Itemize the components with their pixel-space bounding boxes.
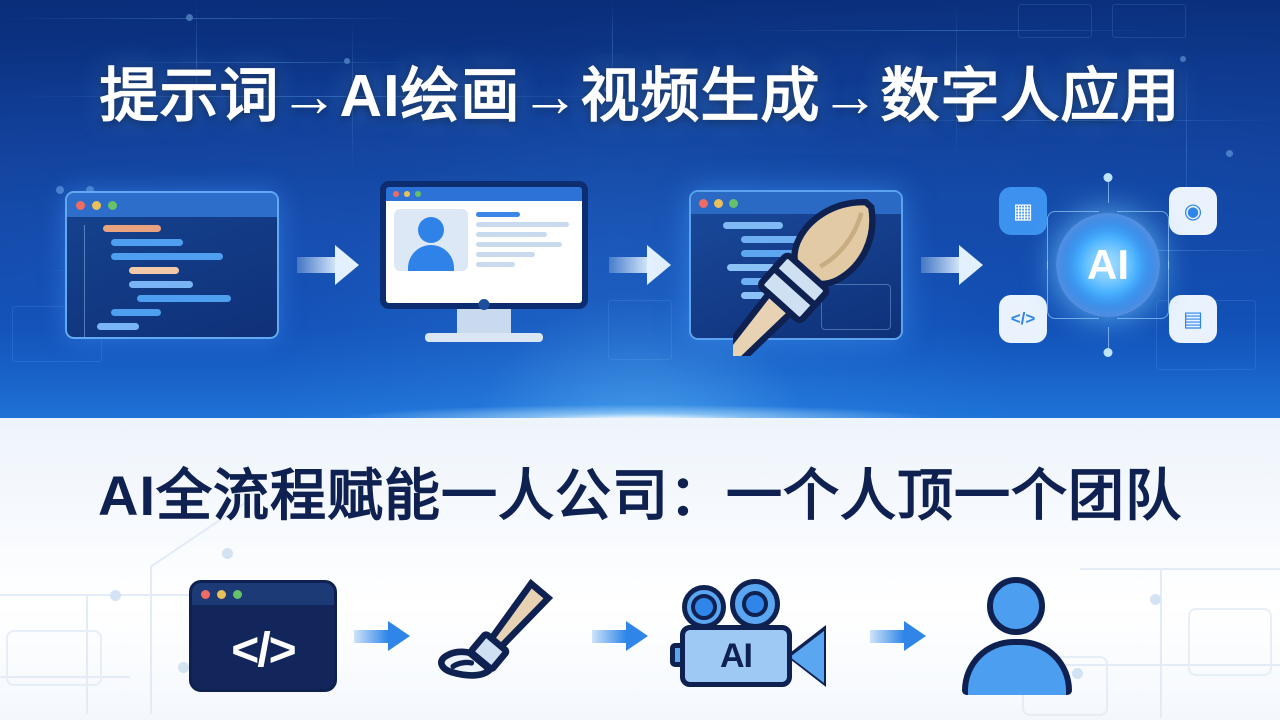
close-dot-icon: [201, 590, 210, 599]
movie-camera-icon: AI: [674, 577, 844, 695]
avatar-chat-icon: ◉: [1169, 187, 1217, 235]
maximize-dot-icon: [233, 590, 242, 599]
image-frame-icon: ▦: [999, 187, 1047, 235]
bottom-arrow-3: [859, 613, 937, 659]
window-titlebar: [67, 193, 277, 217]
bottom-headline: AI全流程赋能一人公司：一个人顶一个团队: [0, 458, 1280, 534]
paintbrush-window-icon: [689, 190, 903, 340]
code-tag-icon: </>: [999, 295, 1047, 343]
bottom-arrow-1: [343, 613, 421, 659]
person-head: [987, 577, 1045, 635]
minimize-dot-icon: [92, 201, 101, 210]
top-arrow-1: [292, 235, 364, 295]
bottom-panel: AI全流程赋能一人公司：一个人顶一个团队 </>: [0, 418, 1280, 720]
bottom-arrow-2: [581, 613, 659, 659]
camera-reel-left-icon: [682, 585, 726, 629]
top-arrow-2: [604, 235, 676, 295]
camera-ai-label: AI: [720, 637, 752, 676]
camera-lens-icon: [790, 631, 824, 683]
code-lines: [67, 217, 277, 339]
desktop-monitor-icon: [380, 181, 588, 349]
code-window-icon: </>: [189, 580, 337, 692]
maximize-dot-icon: [108, 201, 117, 210]
top-flow-step-digital-human: ▦ ◉ </> ▤ AI: [988, 165, 1228, 365]
window-titlebar: [192, 583, 334, 605]
code-window-icon: [65, 191, 279, 339]
top-flow-step-prompt: [52, 165, 292, 365]
ai-core-badge: AI: [1056, 213, 1160, 317]
poster-canvas: 提示词→AI绘画→视频生成→数字人应用: [0, 0, 1280, 720]
person-body: [962, 639, 1072, 695]
paintbrush-icon: [733, 174, 915, 356]
ai-hub-icon: ▦ ◉ </> ▤ AI: [993, 175, 1223, 355]
bottom-flow-step-person: [937, 569, 1097, 704]
top-panel: 提示词→AI绘画→视频生成→数字人应用: [0, 0, 1280, 418]
bottom-flow-row: </>: [0, 566, 1280, 706]
ai-core-label: AI: [1087, 241, 1129, 289]
bottom-flow-step-code: </>: [183, 569, 343, 704]
avatar: [394, 209, 468, 271]
minimize-dot-icon: [217, 590, 226, 599]
layout-panel-icon: ▤: [1169, 295, 1217, 343]
paintbrush-icon: [435, 570, 567, 702]
code-tag-symbol: </>: [192, 605, 334, 692]
top-flow-step-ai-drawing: [364, 165, 604, 365]
top-arrow-3: [916, 235, 988, 295]
top-flow-row: ▦ ◉ </> ▤ AI: [0, 160, 1280, 370]
close-dot-icon: [76, 201, 85, 210]
bottom-flow-step-design: [421, 569, 581, 704]
top-headline: 提示词→AI绘画→视频生成→数字人应用: [0, 55, 1280, 137]
camera-reel-right-icon: [730, 579, 780, 629]
user-person-icon: [954, 575, 1080, 697]
top-flow-step-video-gen: [676, 165, 916, 365]
camera-body: AI: [680, 625, 792, 687]
bottom-flow-step-video: AI: [659, 569, 859, 704]
